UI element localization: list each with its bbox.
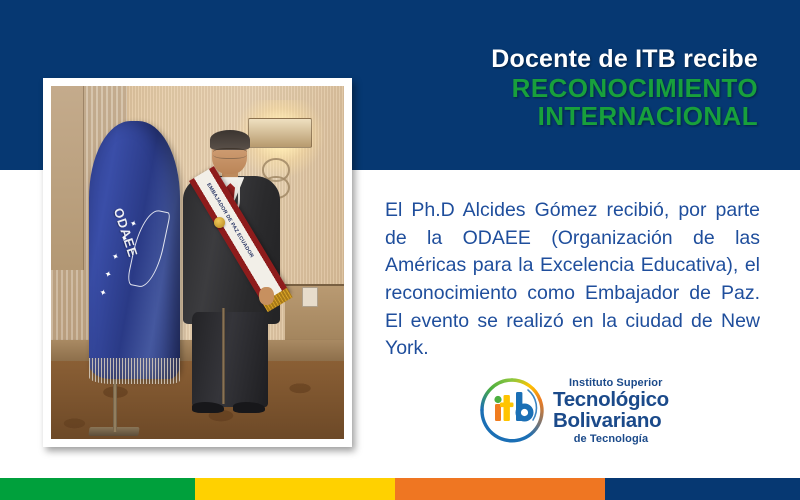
photo-man-shoe-left xyxy=(192,402,224,413)
logo-line-instituto: Instituto Superior xyxy=(553,378,669,389)
headline-line-3: INTERNACIONAL xyxy=(380,103,758,131)
footer-stripe-yellow xyxy=(195,478,395,500)
photo-sconce-shade xyxy=(248,118,312,148)
photo-man-glasses xyxy=(213,148,246,158)
body-paragraph: El Ph.D Alcides Gómez recibió, por parte… xyxy=(385,197,760,391)
itb-logo: Instituto Superior Tecnológico Bolivaria… xyxy=(478,374,698,446)
photo-man-trousers xyxy=(192,312,268,407)
photo-frame: ✦ ✦ ✦ ✦ ✦ ODAEE EMBAJADOR DE PAZ ECUADO xyxy=(43,78,352,447)
photo-man-shoe-right xyxy=(233,402,265,413)
photo-man-medal xyxy=(214,217,226,228)
headline-line-1: Docente de ITB recibe xyxy=(380,46,758,73)
itb-logo-text: Instituto Superior Tecnológico Bolivaria… xyxy=(553,376,669,445)
logo-line-bolivariano: Bolivariano xyxy=(553,411,669,432)
photo-image: ✦ ✦ ✦ ✦ ✦ ODAEE EMBAJADOR DE PAZ ECUADO xyxy=(51,86,344,439)
logo-line-tecnologico: Tecnológico xyxy=(553,390,669,411)
headline: Docente de ITB recibe RECONOCIMIENTO INT… xyxy=(380,46,758,131)
footer-stripe-navy xyxy=(605,478,800,500)
photo-odaee-flag: ✦ ✦ ✦ ✦ ✦ ODAEE xyxy=(89,121,180,379)
poster-canvas: Docente de ITB recibe RECONOCIMIENTO INT… xyxy=(0,0,800,500)
photo-flag-fringe xyxy=(89,358,180,384)
logo-line-de-tecnologia: de Tecnología xyxy=(553,434,669,445)
itb-logo-mark-icon xyxy=(478,376,546,444)
photo-man-hand xyxy=(259,287,274,305)
footer-stripe-orange xyxy=(395,478,605,500)
photo-door xyxy=(51,86,84,270)
headline-line-2: RECONOCIMIENTO xyxy=(380,75,758,103)
photo-wall-outlet xyxy=(302,287,317,307)
footer-stripe xyxy=(0,478,800,500)
photo-man-cane xyxy=(222,308,225,403)
photo-man-hair xyxy=(210,130,250,149)
footer-stripe-green xyxy=(0,478,195,500)
